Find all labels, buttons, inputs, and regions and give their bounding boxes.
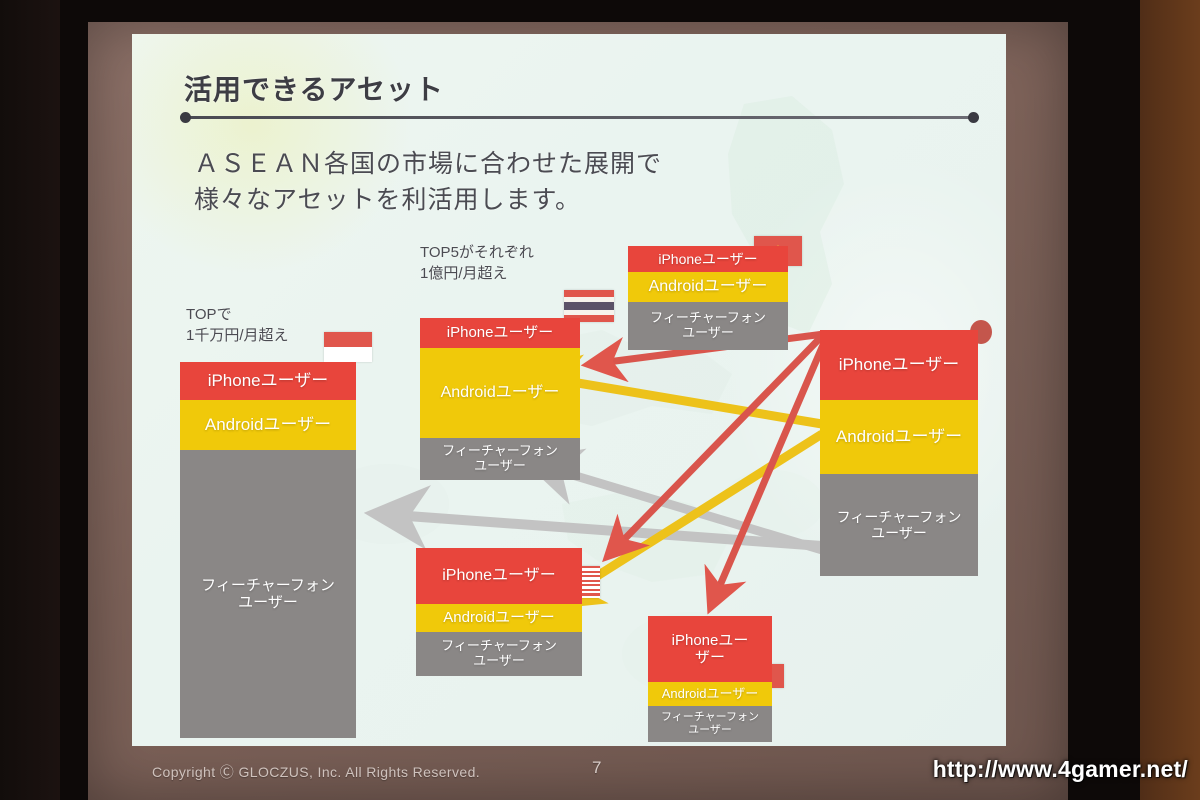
- flag-indonesia-icon: [324, 332, 372, 362]
- stack-thailand[interactable]: iPhoneユーザー Androidユーザー フィーチャーフォン ユーザー: [420, 318, 580, 480]
- arrow-grey-to-indonesia: [380, 514, 822, 546]
- slide-title: 活用できるアセット: [184, 68, 444, 108]
- stack-malaysia[interactable]: iPhoneユーザー Androidユーザー フィーチャーフォン ユーザー: [416, 548, 582, 676]
- segment-japan-feature[interactable]: フィーチャーフォン ユーザー: [820, 474, 978, 576]
- presentation-slide: 活用できるアセット ＡＳＥＡＮ各国の市場に合わせた展開で 様々なアセットを利活用…: [132, 34, 1006, 746]
- flag-thailand-stripe-blue: [564, 302, 614, 311]
- rule-dot-left: [180, 112, 191, 123]
- segment-indonesia-android[interactable]: Androidユーザー: [180, 400, 356, 450]
- segment-thailand-android[interactable]: Androidユーザー: [420, 348, 580, 438]
- arrow-red-to-singapore: [712, 338, 826, 604]
- caption-thailand: TOP5がそれぞれ 1億円/月超え: [420, 242, 534, 284]
- segment-japan-iphone[interactable]: iPhoneユーザー: [820, 330, 978, 400]
- stack-indonesia[interactable]: iPhoneユーザー Androidユーザー フィーチャーフォン ユーザー: [180, 362, 356, 738]
- segment-vietnam-feature[interactable]: フィーチャーフォン ユーザー: [628, 302, 788, 350]
- segment-malaysia-feature[interactable]: フィーチャーフォン ユーザー: [416, 632, 582, 676]
- slide-page-number: 7: [592, 758, 601, 778]
- flag-indonesia-red-band: [324, 332, 372, 347]
- segment-indonesia-iphone[interactable]: iPhoneユーザー: [180, 362, 356, 400]
- slide-subtitle: ＡＳＥＡＮ各国の市場に合わせた展開で 様々なアセットを利活用します。: [194, 146, 662, 219]
- site-watermark: http://www.4gamer.net/: [933, 756, 1188, 783]
- segment-singapore-iphone[interactable]: iPhoneユー ザー: [648, 616, 772, 682]
- stack-japan[interactable]: iPhoneユーザー Androidユーザー フィーチャーフォン ユーザー: [820, 330, 978, 576]
- slide-footer-copyright: Copyright Ⓒ GLOCZUS, Inc. All Rights Res…: [152, 762, 480, 782]
- segment-thailand-iphone[interactable]: iPhoneユーザー: [420, 318, 580, 348]
- segment-thailand-feature[interactable]: フィーチャーフォン ユーザー: [420, 438, 580, 480]
- segment-malaysia-android[interactable]: Androidユーザー: [416, 604, 582, 632]
- subtitle-line-2: 様々なアセットを利活用します。: [194, 182, 662, 218]
- flag-thailand-stripe-red-top: [564, 290, 614, 297]
- segment-vietnam-iphone[interactable]: iPhoneユーザー: [628, 246, 788, 272]
- stack-vietnam[interactable]: iPhoneユーザー Androidユーザー フィーチャーフォン ユーザー: [628, 246, 788, 350]
- segment-japan-android[interactable]: Androidユーザー: [820, 400, 978, 474]
- segment-indonesia-feature[interactable]: フィーチャーフォン ユーザー: [180, 450, 356, 738]
- title-underline-rule: [184, 116, 974, 119]
- subtitle-line-1: ＡＳＥＡＮ各国の市場に合わせた展開で: [194, 146, 662, 182]
- arrow-red-to-malaysia: [610, 334, 824, 554]
- segment-singapore-feature[interactable]: フィーチャーフォン ユーザー: [648, 706, 772, 742]
- segment-singapore-android[interactable]: Androidユーザー: [648, 682, 772, 706]
- caption-indonesia: TOPで 1千万円/月超え: [186, 304, 289, 346]
- segment-malaysia-iphone[interactable]: iPhoneユーザー: [416, 548, 582, 604]
- stack-singapore[interactable]: iPhoneユー ザー Androidユーザー フィーチャーフォン ユーザー: [648, 616, 772, 742]
- segment-vietnam-android[interactable]: Androidユーザー: [628, 272, 788, 302]
- photo-of-projected-slide: 活用できるアセット ＡＳＥＡＮ各国の市場に合わせた展開で 様々なアセットを利活用…: [0, 0, 1200, 800]
- rule-dot-right: [968, 112, 979, 123]
